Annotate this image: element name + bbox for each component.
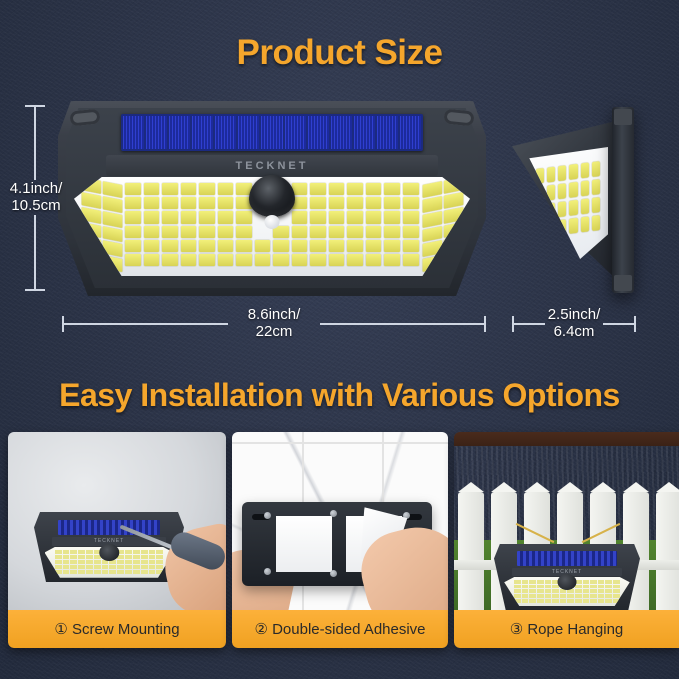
led-chip: [384, 183, 400, 195]
install-option-rope-hanging[interactable]: TECKNET ③ Rope Hanging: [454, 432, 679, 648]
solar-cell: [123, 116, 144, 149]
led-chip: [384, 226, 400, 238]
led-chip: [70, 550, 77, 554]
led-chip: [162, 211, 178, 223]
product-front-view: TECKNET: [58, 101, 486, 296]
led-chip: [102, 565, 109, 569]
led-chip: [347, 240, 363, 252]
led-chip: [403, 254, 419, 266]
dim-line-height-lower: [34, 215, 36, 290]
led-chip: [605, 580, 612, 584]
led-chip: [144, 226, 160, 238]
led-chip: [125, 570, 132, 574]
led-chip: [590, 585, 597, 589]
led-chip: [347, 183, 363, 195]
led-chip: [529, 594, 536, 598]
led-chip: [558, 219, 566, 235]
led-chip: [94, 570, 101, 574]
bracket-screw-tl: [264, 512, 271, 519]
brand-bar: TECKNET: [106, 155, 438, 176]
solar-cell: [308, 116, 329, 149]
solar-cell: [400, 116, 421, 149]
led-chip: [156, 570, 163, 574]
led-chip: [560, 599, 567, 603]
caption-screw-mounting: ① Screw Mounting: [8, 610, 226, 648]
led-chip: [422, 181, 441, 198]
led-chip: [529, 599, 536, 603]
led-chip: [117, 570, 124, 574]
led-chip: [78, 550, 85, 554]
solar-panel: [121, 114, 423, 151]
led-chip: [366, 211, 382, 223]
led-chip: [598, 585, 605, 589]
led-chip: [310, 183, 326, 195]
led-chip: [384, 211, 400, 223]
led-chip: [199, 254, 215, 266]
solar-cell: [238, 116, 259, 149]
led-chip: [514, 594, 521, 598]
screwdriver-handle: [167, 528, 226, 573]
led-chip: [255, 240, 271, 252]
led-chip: [70, 555, 77, 559]
led-chip: [545, 594, 552, 598]
led-chip: [144, 183, 160, 195]
led-chip: [55, 550, 62, 554]
led-chip: [552, 599, 559, 603]
led-chip: [273, 240, 289, 252]
led-chip: [103, 196, 122, 213]
led-chip: [522, 585, 529, 589]
led-chip: [218, 254, 234, 266]
led-chip: [558, 201, 566, 217]
photo-screw-mounting: TECKNET: [8, 432, 226, 610]
led-chip: [181, 254, 197, 266]
led-chip: [536, 222, 544, 238]
led-chip: [70, 560, 77, 564]
mini-pir-sensor-icon: [558, 574, 577, 590]
led-chip: [605, 594, 612, 598]
led-chip: [82, 192, 101, 209]
led-chip: [537, 585, 544, 589]
led-chip: [55, 560, 62, 564]
led-chip: [103, 226, 122, 243]
led-chip: [86, 550, 93, 554]
led-chip: [529, 585, 536, 589]
photo-rope-hanging: TECKNET: [454, 432, 679, 610]
led-chip: [569, 218, 577, 234]
led-chip: [218, 197, 234, 209]
dimension-label-width: 8.6inch/ 22cm: [228, 306, 320, 340]
led-chip: [125, 197, 141, 209]
led-chip: [94, 560, 101, 564]
led-chip: [236, 240, 252, 252]
led-chip: [181, 226, 197, 238]
led-chip: [592, 197, 600, 213]
led-chip: [547, 221, 555, 237]
led-chip: [598, 594, 605, 598]
led-chip: [592, 161, 600, 177]
dim-line-width-right: [320, 323, 485, 325]
led-chip: [144, 211, 160, 223]
led-chip: [403, 183, 419, 195]
led-chip: [403, 226, 419, 238]
led-chip: [522, 599, 529, 603]
led-chip: [125, 211, 141, 223]
led-chip: [63, 570, 70, 574]
led-chip: [78, 565, 85, 569]
led-chip: [329, 197, 345, 209]
led-chip: [218, 183, 234, 195]
led-chip: [329, 211, 345, 223]
led-chip: [70, 570, 77, 574]
led-chip: [558, 165, 566, 181]
led-chip: [605, 599, 612, 603]
side-mounting-plate: [612, 107, 634, 293]
led-chip: [347, 197, 363, 209]
solar-cell: [192, 116, 213, 149]
dim-cap-width-right: [484, 316, 486, 332]
led-chip: [181, 240, 197, 252]
led-chip: [199, 197, 215, 209]
led-chip: [605, 589, 612, 593]
led-chip: [569, 200, 577, 216]
led-chip: [590, 589, 597, 593]
led-chip: [103, 181, 122, 198]
led-chip: [63, 550, 70, 554]
led-chip: [144, 197, 160, 209]
led-chip: [310, 211, 326, 223]
dim-line-height-upper: [34, 105, 36, 180]
led-chip: [366, 197, 382, 209]
led-chip: [403, 240, 419, 252]
led-chip: [403, 211, 419, 223]
led-chip: [580, 217, 588, 233]
led-chip: [583, 594, 590, 598]
led-chip: [514, 585, 521, 589]
caption-double-sided-adhesive: ② Double-sided Adhesive: [232, 610, 448, 648]
led-chip: [545, 589, 552, 593]
soil-strip: [454, 432, 679, 446]
solar-cell: [261, 116, 282, 149]
product-side-view: [512, 105, 634, 295]
led-chip: [181, 197, 197, 209]
led-chip: [181, 211, 197, 223]
led-chip: [598, 599, 605, 603]
led-chip: [384, 254, 400, 266]
dim-cap-depth-right: [634, 316, 636, 332]
led-chip: [218, 226, 234, 238]
led-chip: [162, 226, 178, 238]
led-chip: [536, 204, 544, 220]
caption-rope-hanging: ③ Rope Hanging: [454, 610, 679, 648]
led-chip: [514, 589, 521, 593]
led-chip: [514, 580, 521, 584]
led-chip: [613, 580, 620, 584]
led-chip: [236, 226, 252, 238]
led-chip: [103, 211, 122, 228]
led-chip: [199, 211, 215, 223]
led-chip: [590, 580, 597, 584]
led-chip: [310, 226, 326, 238]
led-chip: [149, 570, 156, 574]
led-chip: [292, 211, 308, 223]
led-chip: [78, 560, 85, 564]
led-chip: [366, 226, 382, 238]
led-chip: [199, 240, 215, 252]
led-chip: [63, 560, 70, 564]
page-title-product-size: Product Size: [0, 33, 679, 73]
dim-cap-height-bottom: [25, 289, 45, 291]
led-chip: [580, 180, 588, 196]
led-chip: [580, 199, 588, 215]
led-chip: [141, 570, 148, 574]
led-chip: [613, 589, 620, 593]
dim-line-width-left: [62, 323, 228, 325]
led-chip: [125, 183, 141, 195]
led-chip: [347, 226, 363, 238]
side-led-array: [536, 161, 600, 238]
install-option-double-sided-adhesive[interactable]: ② Double-sided Adhesive: [232, 432, 448, 648]
led-chip: [384, 240, 400, 252]
solar-cell: [146, 116, 167, 149]
bracket-screw-bc: [330, 570, 337, 577]
led-chip: [366, 254, 382, 266]
led-chip: [598, 580, 605, 584]
led-chip: [605, 585, 612, 589]
led-chip: [575, 599, 582, 603]
fence-picket: [656, 492, 679, 610]
led-chip: [575, 585, 582, 589]
bracket-screw-bl: [264, 568, 271, 575]
led-chip: [537, 589, 544, 593]
led-chip: [218, 240, 234, 252]
led-chip: [86, 555, 93, 559]
led-chip: [592, 215, 600, 231]
solar-cell: [285, 116, 306, 149]
led-chip: [199, 226, 215, 238]
led-chip: [567, 599, 574, 603]
infographic-root: Product Size 4.1inch/ 10.5cm 8.6inch/ 22…: [0, 0, 679, 679]
side-led-face: [526, 147, 608, 259]
led-chip: [94, 565, 101, 569]
led-chip: [292, 254, 308, 266]
led-chip: [537, 594, 544, 598]
side-lug-top: [614, 109, 632, 125]
led-chip: [310, 240, 326, 252]
dimension-label-height: 4.1inch/ 10.5cm: [0, 180, 72, 214]
led-chip: [422, 226, 441, 243]
led-chip: [545, 585, 552, 589]
led-chip: [162, 197, 178, 209]
led-chip: [575, 594, 582, 598]
led-chip: [366, 240, 382, 252]
led-chip: [613, 599, 620, 603]
led-chip: [537, 580, 544, 584]
screwdriver-shaft: [120, 525, 179, 552]
bracket-screw-tc: [330, 510, 337, 517]
led-chip: [181, 183, 197, 195]
led-chip: [310, 197, 326, 209]
fence-picket: [458, 492, 484, 610]
solar-cell: [169, 116, 190, 149]
led-chip: [384, 197, 400, 209]
led-chip: [569, 182, 577, 198]
install-option-screw-mounting[interactable]: TECKNET ① Screw Mounting: [8, 432, 226, 648]
led-chip: [144, 240, 160, 252]
led-chip: [329, 240, 345, 252]
led-chip: [255, 254, 271, 266]
solar-cell: [215, 116, 236, 149]
led-chip: [218, 211, 234, 223]
led-chip: [86, 565, 93, 569]
solar-cell: [377, 116, 398, 149]
led-chip: [125, 254, 141, 266]
led-chip: [86, 570, 93, 574]
led-chip: [366, 183, 382, 195]
led-chip: [613, 594, 620, 598]
pir-motion-sensor-icon: [249, 175, 295, 217]
led-chip: [125, 226, 141, 238]
led-chip: [598, 589, 605, 593]
led-chip: [522, 580, 529, 584]
led-chip: [292, 226, 308, 238]
led-chip: [552, 589, 559, 593]
led-chip: [590, 594, 597, 598]
led-chip: [55, 555, 62, 559]
led-chip: [144, 254, 160, 266]
led-chip: [78, 570, 85, 574]
led-chip: [125, 240, 141, 252]
led-chip: [199, 183, 215, 195]
led-chip: [292, 240, 308, 252]
led-chip: [545, 580, 552, 584]
brand-label: TECKNET: [236, 160, 309, 172]
led-chip: [590, 599, 597, 603]
led-chip: [86, 560, 93, 564]
led-chip: [443, 192, 462, 209]
led-chip: [569, 164, 577, 180]
hanging-light-unit: TECKNET: [494, 544, 640, 610]
led-chip: [575, 589, 582, 593]
led-chip: [236, 211, 252, 223]
led-chip: [329, 254, 345, 266]
led-chip: [162, 183, 178, 195]
led-chip: [329, 183, 345, 195]
screwdriver-icon: [112, 520, 226, 568]
led-chip: [70, 565, 77, 569]
led-chip: [522, 594, 529, 598]
led-chip: [529, 580, 536, 584]
led-chip: [310, 254, 326, 266]
led-chip: [63, 565, 70, 569]
led-chip: [329, 226, 345, 238]
led-chip: [567, 594, 574, 598]
solar-cell: [354, 116, 375, 149]
led-chip: [583, 585, 590, 589]
led-chip: [55, 565, 62, 569]
solar-cell: [331, 116, 352, 149]
dimension-label-depth: 2.5inch/ 6.4cm: [529, 306, 619, 340]
led-chip: [529, 589, 536, 593]
led-chip: [347, 211, 363, 223]
led-chip: [162, 240, 178, 252]
led-chip: [583, 599, 590, 603]
led-chip: [583, 580, 590, 584]
led-chip: [514, 599, 521, 603]
photo-double-sided-adhesive: [232, 432, 448, 610]
adhesive-pad-left: [276, 516, 332, 572]
led-chip: [403, 197, 419, 209]
led-chip: [133, 570, 140, 574]
led-chip: [558, 183, 566, 199]
tile-seam-h1: [232, 442, 448, 444]
side-lug-bottom: [614, 275, 632, 291]
led-chip: [102, 570, 109, 574]
led-chip: [422, 196, 441, 213]
page-title-installation: Easy Installation with Various Options: [0, 377, 679, 414]
led-chip: [78, 555, 85, 559]
led-chip: [552, 594, 559, 598]
led-chip: [580, 162, 588, 178]
led-chip: [422, 211, 441, 228]
led-chip: [55, 570, 62, 574]
led-chip: [522, 589, 529, 593]
led-chip: [613, 585, 620, 589]
led-chip: [547, 166, 555, 182]
led-chip: [583, 589, 590, 593]
mini-solar-panel: [517, 551, 616, 566]
led-chip: [560, 594, 567, 598]
led-chip: [347, 254, 363, 266]
led-chip: [592, 179, 600, 195]
led-chip: [537, 599, 544, 603]
led-chip: [109, 570, 116, 574]
led-chip: [162, 254, 178, 266]
led-chip: [273, 254, 289, 266]
led-chip: [236, 254, 252, 266]
led-chip: [63, 555, 70, 559]
led-chip: [545, 599, 552, 603]
